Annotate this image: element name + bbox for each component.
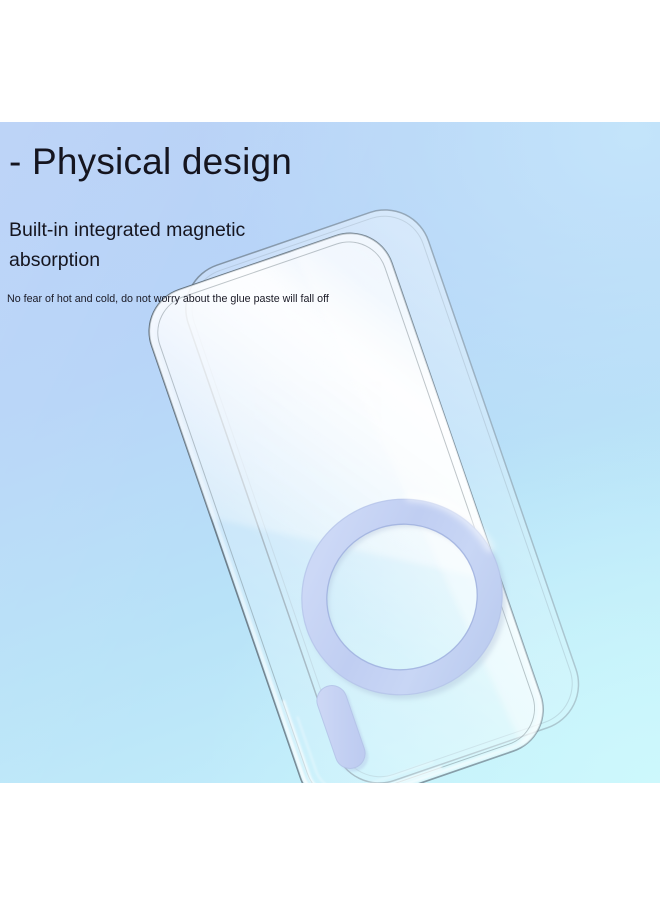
page-title: - Physical design [9, 143, 292, 180]
page-body-text: No fear of hot and cold, do not worry ab… [7, 291, 375, 308]
page-subtitle: Built-in integrated magnetic absorption [9, 215, 309, 275]
product-image-canvas: - Physical design Built-in integrated ma… [0, 0, 660, 900]
product-panel: - Physical design Built-in integrated ma… [0, 122, 660, 783]
